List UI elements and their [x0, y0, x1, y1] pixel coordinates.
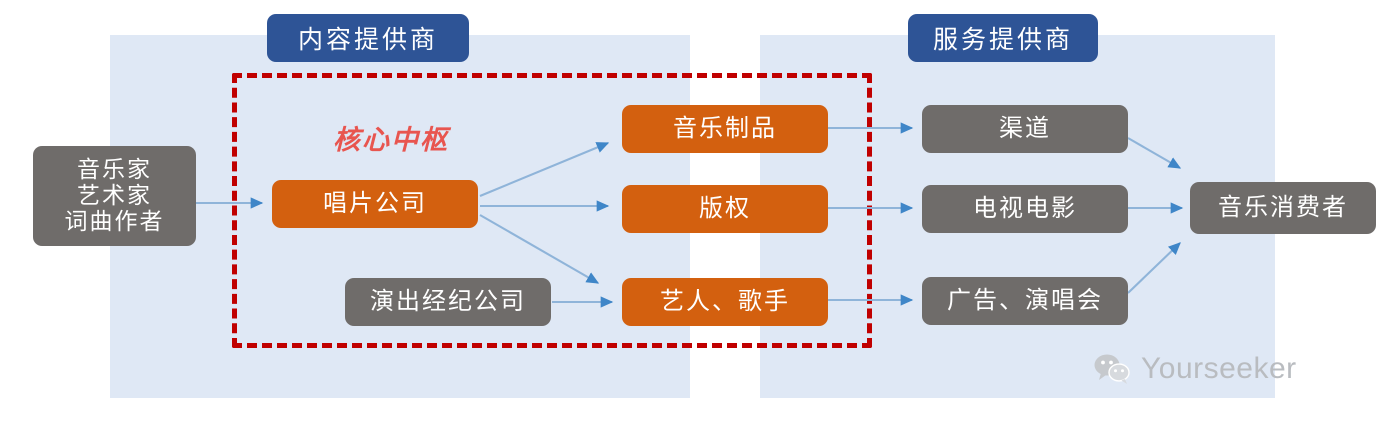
node-channels[interactable]: 渠道 [922, 105, 1128, 153]
node-tv-film[interactable]: 电视电影 [922, 185, 1128, 233]
band-label-content-provider-text: 内容提供商 [298, 20, 438, 56]
diagram-canvas: 内容提供商 服务提供商 核心中枢 音乐家 艺术家 词曲作者 [0, 0, 1397, 427]
node-performance-agency-label: 演出经纪公司 [370, 289, 526, 316]
node-record-company[interactable]: 唱片公司 [272, 180, 478, 228]
node-performance-agency[interactable]: 演出经纪公司 [345, 278, 551, 326]
node-ads-concerts-label: 广告、演唱会 [947, 288, 1103, 315]
core-hub-label: 核心中枢 [333, 118, 449, 157]
node-music-products-label: 音乐制品 [673, 116, 777, 143]
node-record-company-label: 唱片公司 [323, 191, 427, 218]
node-copyright[interactable]: 版权 [622, 185, 828, 233]
node-copyright-label: 版权 [699, 196, 751, 223]
band-label-content-provider: 内容提供商 [267, 14, 469, 62]
watermark-text: Yourseeker [1141, 352, 1297, 386]
node-channels-label: 渠道 [999, 116, 1051, 143]
band-label-service-provider: 服务提供商 [908, 14, 1098, 62]
node-ads-concerts[interactable]: 广告、演唱会 [922, 277, 1128, 325]
watermark: Yourseeker [1093, 352, 1297, 386]
wechat-icon [1093, 353, 1131, 385]
node-artists-singers[interactable]: 艺人、歌手 [622, 278, 828, 326]
node-music-consumers-label: 音乐消费者 [1218, 195, 1348, 222]
node-music-products[interactable]: 音乐制品 [622, 105, 828, 153]
node-creators[interactable]: 音乐家 艺术家 词曲作者 [33, 146, 196, 246]
node-creators-line-3: 词曲作者 [65, 209, 165, 235]
node-tv-film-label: 电视电影 [973, 196, 1077, 223]
node-artists-singers-label: 艺人、歌手 [660, 289, 790, 316]
node-creators-line-2: 艺术家 [77, 183, 152, 209]
node-music-consumers[interactable]: 音乐消费者 [1190, 182, 1376, 234]
band-label-service-provider-text: 服务提供商 [933, 20, 1073, 56]
node-creators-line-1: 音乐家 [77, 157, 152, 183]
